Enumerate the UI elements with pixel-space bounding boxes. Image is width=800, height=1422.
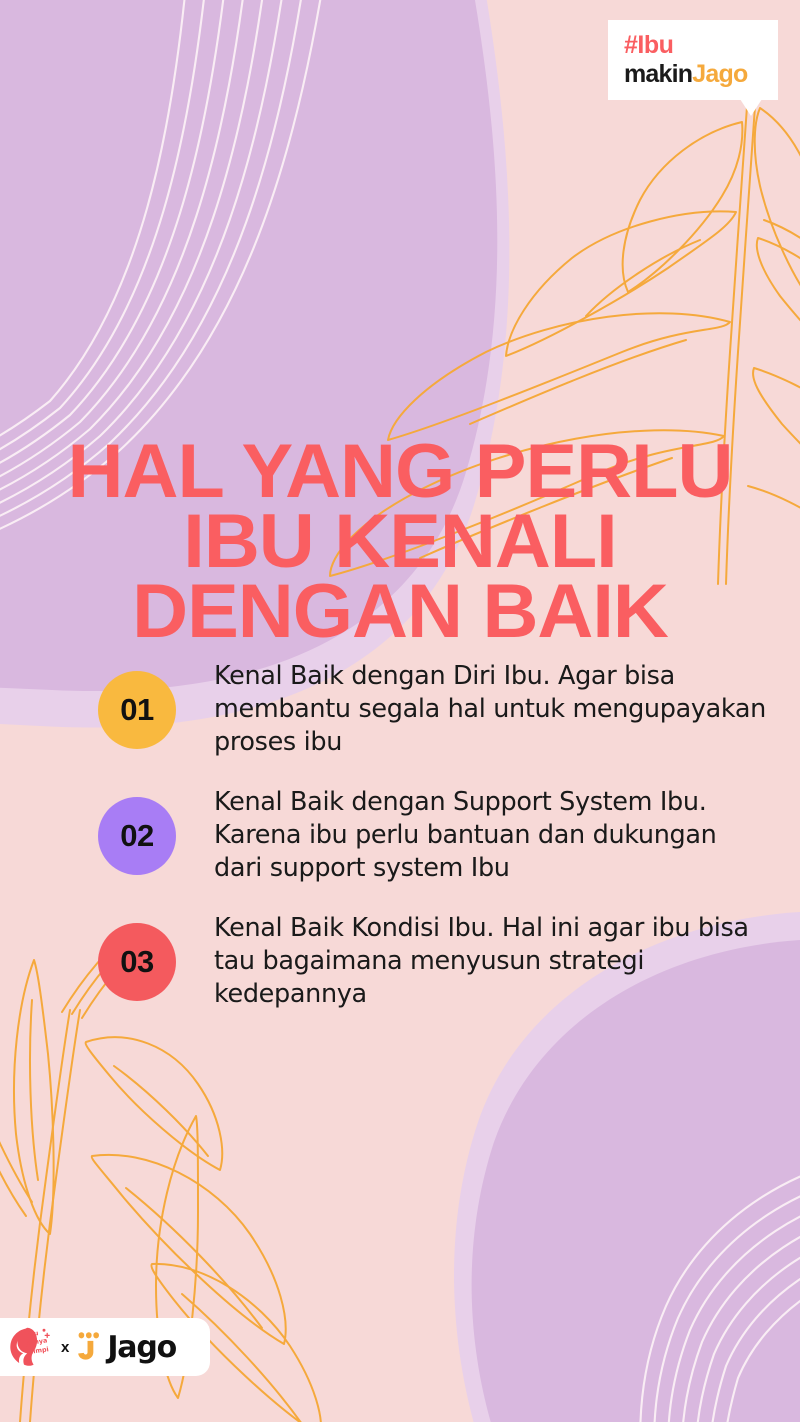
tips-list: 01 Kenal Baik dengan Diri Ibu. Agar bisa… bbox=[98, 658, 768, 1036]
list-item-number-badge: 03 bbox=[98, 923, 176, 1001]
jago-wordmark: Jago bbox=[107, 1330, 176, 1365]
brand-hashtag: #Ibu bbox=[624, 31, 673, 60]
list-item-number-badge: 01 bbox=[98, 671, 176, 749]
partner-separator: x bbox=[61, 1339, 69, 1356]
list-item-text: Kenal Baik dengan Diri Ibu. Agar bisa me… bbox=[214, 658, 768, 759]
brand-word-dark: makin bbox=[624, 60, 692, 88]
headline-line-1: HAL YANG PERLU bbox=[0, 437, 800, 507]
headline-line-2: IBU KENALI bbox=[0, 507, 800, 577]
brand-badge: #Ibu makinJago bbox=[608, 20, 778, 100]
list-item: 02 Kenal Baik dengan Support System Ibu.… bbox=[98, 784, 768, 888]
list-item-number: 02 bbox=[120, 818, 153, 854]
arc-lines-bottom bbox=[640, 1150, 800, 1422]
list-item-number: 03 bbox=[120, 944, 153, 980]
footer-partner-badge: Ibu punya Mimpi x Jago bbox=[0, 1318, 210, 1376]
list-item-number-badge: 02 bbox=[98, 797, 176, 875]
jago-j-icon bbox=[76, 1330, 102, 1364]
poster-canvas: #Ibu makinJago HAL YANG PERLU IBU KENALI… bbox=[0, 0, 800, 1422]
page-title: HAL YANG PERLU IBU KENALI DENGAN BAIK bbox=[0, 437, 800, 647]
brand-word-accent: Jago bbox=[692, 60, 747, 88]
ibu-punya-mimpi-logo-icon: Ibu punya Mimpi bbox=[8, 1326, 56, 1368]
headline-line-3: DENGAN BAIK bbox=[0, 577, 800, 647]
list-item-text: Kenal Baik Kondisi Ibu. Hal ini agar ibu… bbox=[214, 910, 768, 1011]
brand-wordmark: makinJago bbox=[624, 60, 747, 89]
speech-bubble-tail bbox=[740, 99, 762, 116]
list-item: 01 Kenal Baik dengan Diri Ibu. Agar bisa… bbox=[98, 658, 768, 762]
list-item-text: Kenal Baik dengan Support System Ibu. Ka… bbox=[214, 784, 768, 885]
jago-logo: Jago bbox=[76, 1330, 176, 1365]
list-item-number: 01 bbox=[120, 692, 153, 728]
list-item: 03 Kenal Baik Kondisi Ibu. Hal ini agar … bbox=[98, 910, 768, 1014]
